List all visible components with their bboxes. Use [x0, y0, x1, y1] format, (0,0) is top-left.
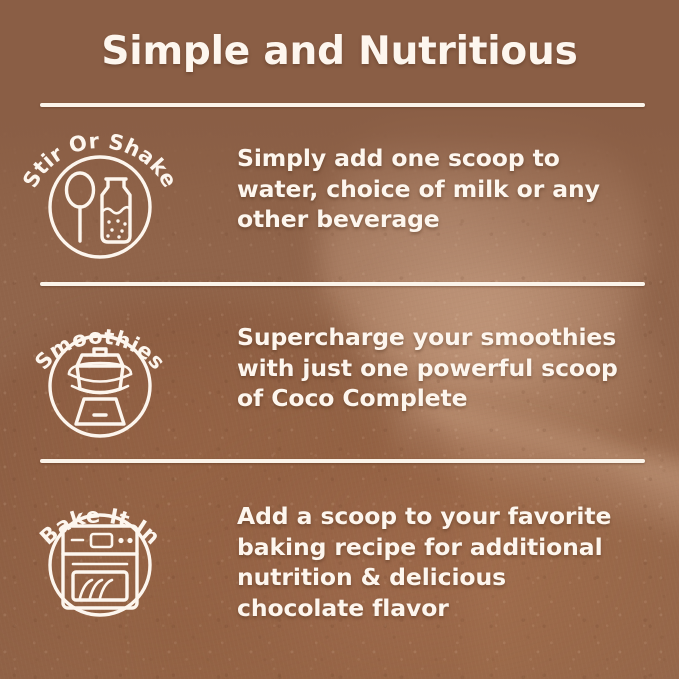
- text-line: with just one powerful scoop: [237, 353, 637, 384]
- text-line: chocolate flavor: [237, 593, 637, 624]
- spoon-glyph: [67, 173, 94, 241]
- oven-icon: Bake It In: [14, 482, 186, 622]
- divider-top: [40, 103, 645, 107]
- badge-label-text: Stir Or Shake: [18, 129, 182, 192]
- text-line: of Coco Complete: [237, 383, 637, 414]
- text-line: Add a scoop to your favorite: [237, 501, 637, 532]
- text-line: baking recipe for additional: [237, 532, 637, 563]
- section-smoothies: Smoothies: [0, 303, 679, 443]
- text-line: water, choice of milk or any: [237, 174, 637, 205]
- text-line: Supercharge your smoothies: [237, 322, 637, 353]
- content-layer: Simple and Nutritious Stir Or Shake: [0, 0, 679, 679]
- spoon-and-milk-bottle-icon: Stir Or Shake: [14, 124, 186, 264]
- section-bake-it-in: Bake It In: [0, 482, 679, 623]
- badge-smoothies: Smoothies: [0, 303, 200, 443]
- section-text-smoothies: Supercharge your smoothies with just one…: [200, 303, 637, 414]
- badge-bake-it-in: Bake It In: [0, 482, 200, 622]
- section-stir-or-shake: Stir Or Shake: [0, 124, 679, 264]
- section-text-stir-or-shake: Simply add one scoop to water, choice of…: [200, 124, 637, 235]
- badge-stir-or-shake: Stir Or Shake: [0, 124, 200, 264]
- blender-icon: Smoothies: [14, 303, 186, 443]
- icon-ring: [50, 157, 150, 257]
- oven-controls-glyph: [72, 534, 133, 547]
- divider-bottom: [40, 459, 645, 463]
- divider-middle: [40, 282, 645, 286]
- icon-ring: [50, 336, 150, 436]
- text-line: other beverage: [237, 204, 637, 235]
- badge-label-stir-or-shake: Stir Or Shake: [18, 129, 182, 192]
- oven-door-glyph: [73, 564, 127, 600]
- text-line: Simply add one scoop to: [237, 143, 637, 174]
- milk-bottle-glyph: [102, 179, 130, 242]
- section-text-bake-it-in: Add a scoop to your favorite baking reci…: [200, 482, 637, 623]
- infographic-panel: Simple and Nutritious Stir Or Shake: [0, 0, 679, 679]
- page-title: Simple and Nutritious: [0, 29, 679, 74]
- blender-base-glyph: [76, 399, 124, 424]
- text-line: nutrition & delicious: [237, 562, 637, 593]
